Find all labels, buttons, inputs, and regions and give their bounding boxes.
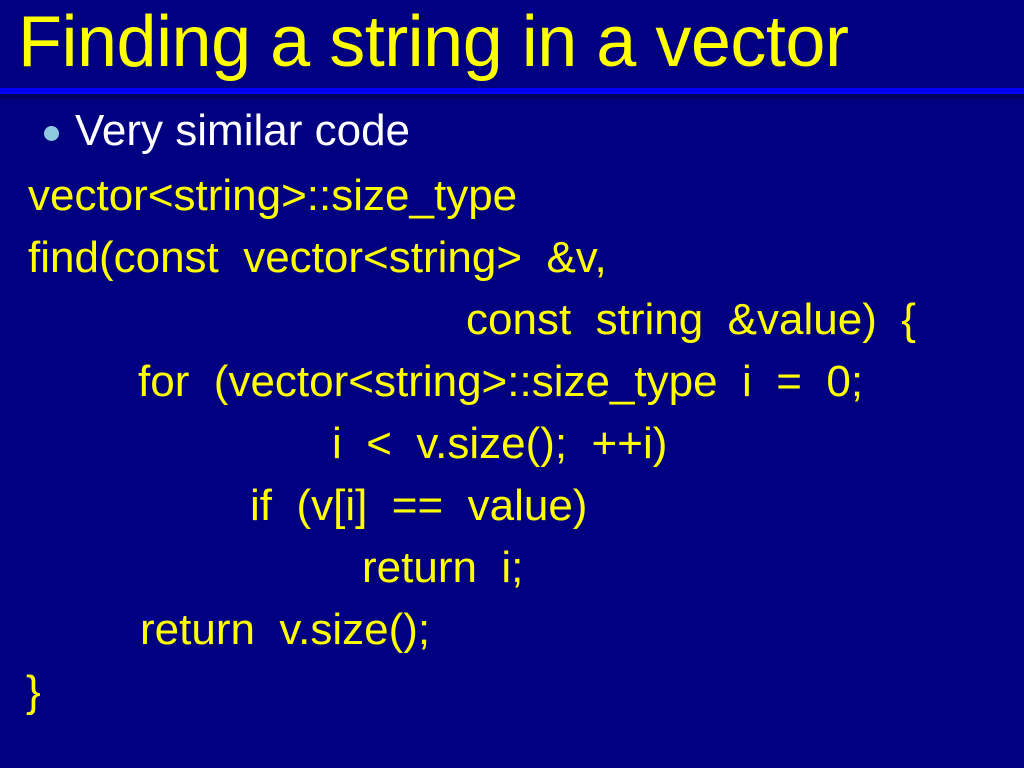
page-title: Finding a string in a vector [18, 0, 848, 86]
code-line: } [0, 661, 1024, 723]
code-line: return v.size(); [0, 599, 1024, 661]
presentation-slide: Finding a string in a vector Very simila… [0, 0, 1024, 768]
list-item: Very similar code [44, 105, 410, 157]
code-listing: vector<string>::size_type find(const vec… [0, 165, 1024, 723]
slide-body: Very similar code vector<string>::size_t… [0, 99, 1024, 768]
code-line: vector<string>::size_type [0, 165, 1024, 227]
bullet-dot-icon [44, 126, 59, 141]
code-line: for (vector<string>::size_type i = 0; [0, 351, 1024, 413]
code-line: return i; [0, 537, 1024, 599]
code-line: find(const vector<string> &v, [0, 227, 1024, 289]
code-line: const string &value) { [0, 289, 1024, 351]
bullet-item-label: Very similar code [75, 105, 410, 157]
slide-title-area: Finding a string in a vector [0, 0, 1024, 88]
code-line: i < v.size(); ++i) [0, 413, 1024, 475]
code-line: if (v[i] == value) [0, 475, 1024, 537]
